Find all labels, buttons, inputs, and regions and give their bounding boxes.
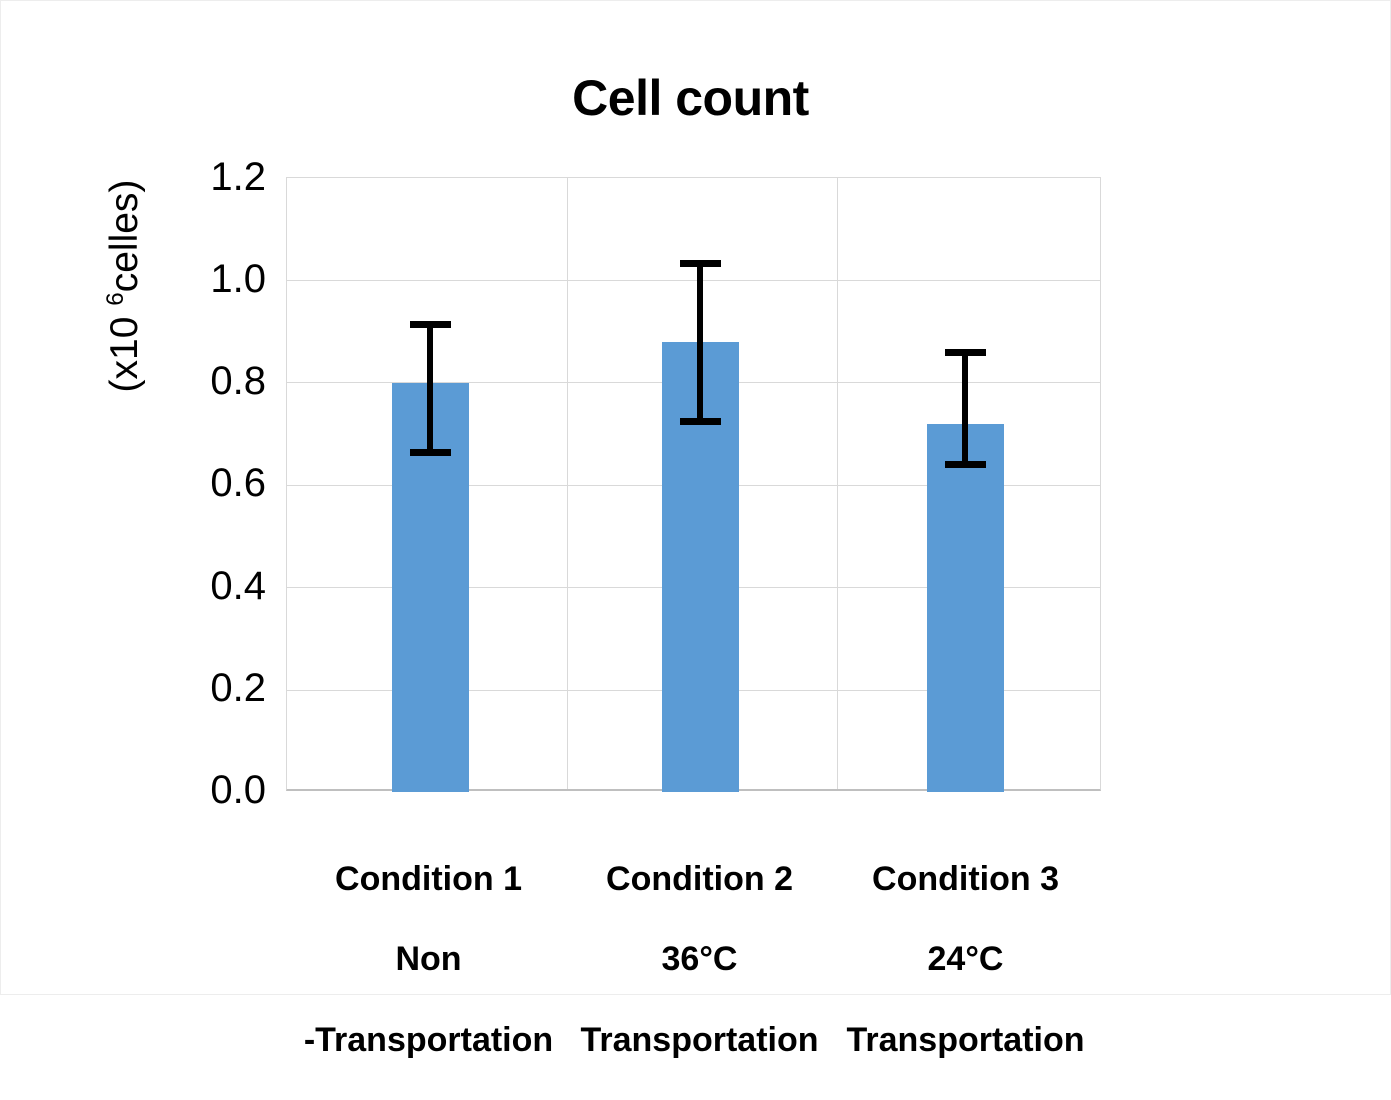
errorbar-cap-upper-condition-3: [945, 349, 986, 356]
x-category-label-3-line-2: 24°C: [823, 939, 1108, 979]
y-tick-label-0-8: 0.8: [181, 361, 266, 401]
chart-title-text: Cell count: [572, 73, 809, 123]
y-tick-label-0-2: 0.2: [181, 668, 266, 708]
errorbar-line-condition-3: [962, 349, 968, 464]
y-axis-title: (x10 6celles): [103, 121, 163, 451]
x-category-label-1-line-1: Condition 1: [286, 859, 571, 899]
chart-title: Cell count: [1, 73, 1391, 123]
x-category-label-2-line-1: Condition 2: [557, 859, 842, 899]
x-category-label-1-line-3: -Transportation: [286, 1020, 571, 1060]
y-axis-title-exponent: 6: [102, 292, 129, 305]
chart-figure: Cell count (x10 6celles) 1.2 1.0 0.8 0.6…: [0, 0, 1391, 995]
category-divider-2: [837, 178, 838, 789]
y-tick-label-0-0: 0.0: [181, 770, 266, 810]
x-category-label-2-line-3: Transportation: [557, 1020, 842, 1060]
category-divider-1: [567, 178, 568, 789]
errorbar-line-condition-1: [427, 321, 433, 452]
errorbar-cap-lower-condition-3: [945, 461, 986, 468]
errorbar-line-condition-2: [697, 260, 703, 421]
y-tick-label-1-2: 1.2: [181, 157, 266, 197]
x-category-label-2: Condition 2 36°C Transportation: [557, 819, 842, 1100]
errorbar-cap-upper-condition-2: [680, 260, 721, 267]
y-axis-title-tail: celles): [103, 180, 146, 293]
plot-area: [286, 177, 1101, 791]
errorbar-cap-upper-condition-1: [410, 321, 451, 328]
x-category-label-3-line-3: Transportation: [823, 1020, 1108, 1060]
x-category-label-1: Condition 1 Non -Transportation: [286, 819, 571, 1100]
errorbar-cap-lower-condition-1: [410, 449, 451, 456]
x-category-label-1-line-2: Non: [286, 939, 571, 979]
y-axis-title-base: (x10: [103, 306, 146, 393]
x-category-label-3-line-1: Condition 3: [823, 859, 1108, 899]
y-tick-label-0-4: 0.4: [181, 566, 266, 606]
gridline-1-0: [287, 280, 1100, 281]
bar-condition-3: [927, 424, 1004, 792]
y-tick-label-1-0: 1.0: [181, 259, 266, 299]
errorbar-cap-lower-condition-2: [680, 418, 721, 425]
x-category-label-3: Condition 3 24°C Transportation: [823, 819, 1108, 1100]
y-tick-label-0-6: 0.6: [181, 463, 266, 503]
x-category-label-2-line-2: 36°C: [557, 939, 842, 979]
